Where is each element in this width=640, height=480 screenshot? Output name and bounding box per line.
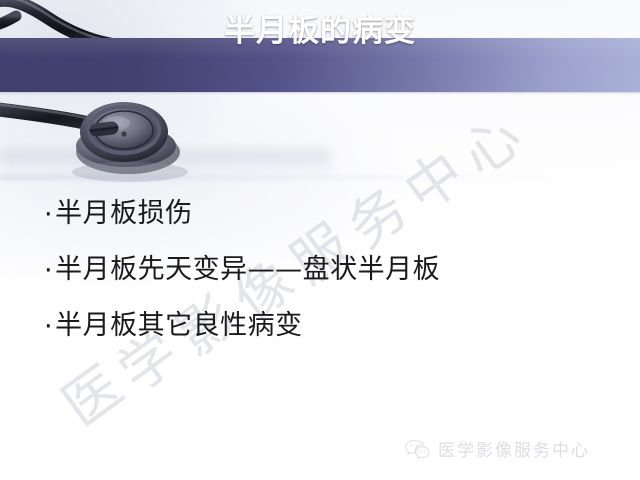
list-item: ·半月板损伤: [44, 186, 604, 242]
list-item-label: 半月板损伤: [55, 198, 193, 229]
list-item-label: 半月板先天变异——盘状半月板: [55, 254, 440, 285]
bullet-marker-icon: ·: [44, 299, 53, 354]
page-title: 半月板的病变: [0, 0, 640, 54]
footer-label: 医学影像服务中心: [438, 436, 590, 461]
bullet-list: ·半月板损伤 ·半月板先天变异——盘状半月板 ·半月板其它良性病变: [44, 186, 604, 354]
bullet-marker-icon: ·: [44, 243, 53, 298]
footer-attribution: 医学影像服务中心: [404, 436, 590, 461]
list-item-label: 半月板其它良性病变: [55, 310, 303, 341]
list-item: ·半月板其它良性病变: [44, 298, 604, 354]
wechat-icon: [404, 438, 430, 460]
bullet-marker-icon: ·: [44, 187, 53, 242]
presentation-slide: 医 学 影 像 服 务 中 心 半月板的病变 ·半月板损伤 ·半月板先天变异——…: [0, 0, 640, 480]
list-item: ·半月板先天变异——盘状半月板: [44, 242, 604, 298]
